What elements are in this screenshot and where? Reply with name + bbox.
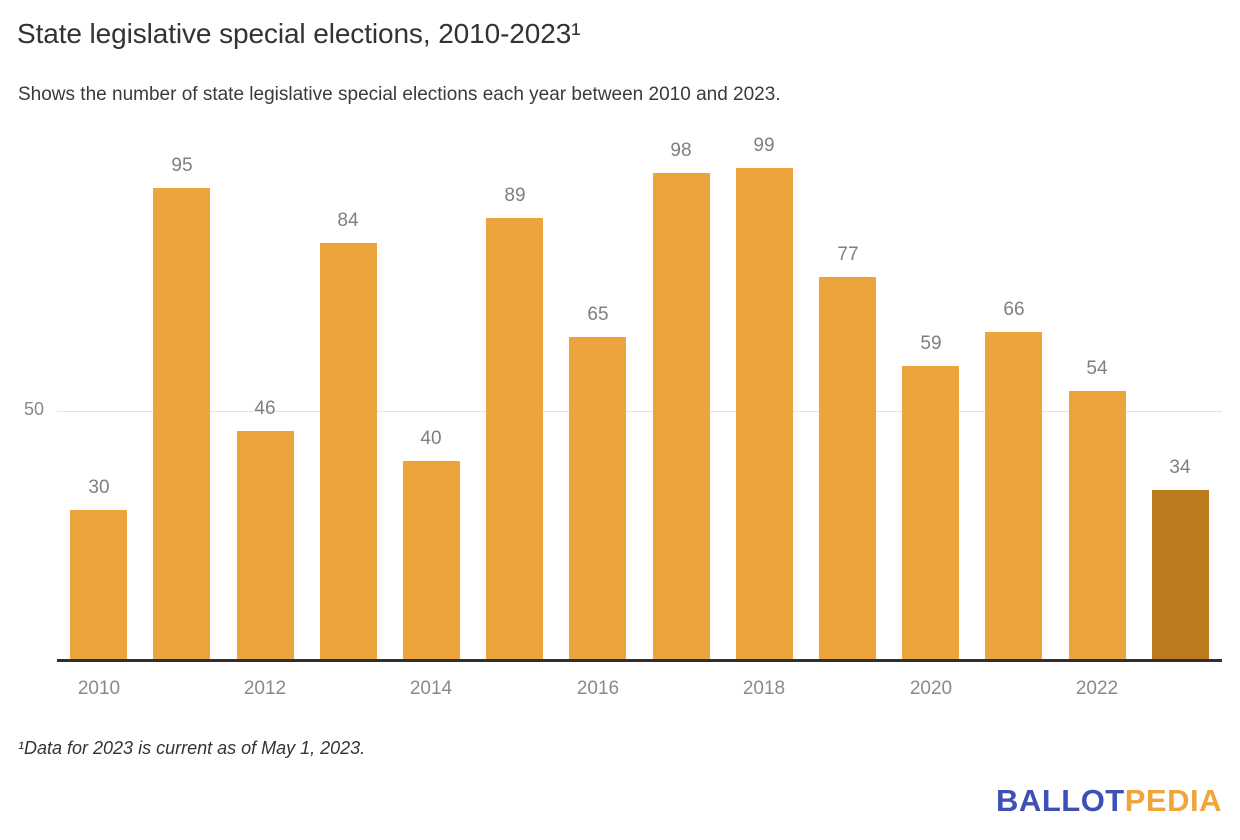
- bar-2017[interactable]: [653, 173, 710, 659]
- bar-value-label-2018: 99: [724, 135, 804, 157]
- bar-value-label-2019: 77: [808, 244, 888, 266]
- bar-value-label-2015: 89: [475, 185, 555, 207]
- logo-text-secondary: PEDIA: [1125, 783, 1222, 818]
- bar-2011[interactable]: [153, 188, 210, 659]
- x-axis-tick-label-2022: 2022: [1052, 678, 1142, 700]
- bar-value-label-2017: 98: [641, 140, 721, 162]
- bar-2020[interactable]: [902, 366, 959, 659]
- bar-2021[interactable]: [985, 332, 1042, 659]
- bar-2022[interactable]: [1069, 391, 1126, 659]
- bar-chart-plot: 5030201095462012844020148965201698992018…: [0, 0, 1240, 840]
- ballotpedia-logo: BALLOTPEDIA: [996, 783, 1222, 819]
- bar-value-label-2010: 30: [59, 477, 139, 499]
- bar-value-label-2012: 46: [225, 398, 305, 420]
- x-axis-tick-label-2012: 2012: [220, 678, 310, 700]
- x-axis-tick-label-2018: 2018: [719, 678, 809, 700]
- chart-card: State legislative special elections, 201…: [0, 0, 1240, 840]
- bar-2012[interactable]: [237, 431, 294, 659]
- bar-2013[interactable]: [320, 243, 377, 659]
- bar-value-label-2013: 84: [308, 210, 388, 232]
- chart-footnote: ¹Data for 2023 is current as of May 1, 2…: [18, 738, 365, 759]
- bar-2023[interactable]: [1152, 490, 1209, 659]
- logo-text-primary: BALLOT: [996, 783, 1125, 818]
- x-axis-tick-label-2010: 2010: [54, 678, 144, 700]
- bar-2015[interactable]: [486, 218, 543, 659]
- bar-value-label-2014: 40: [391, 428, 471, 450]
- bar-value-label-2023: 34: [1140, 457, 1220, 479]
- bar-2019[interactable]: [819, 277, 876, 659]
- bar-2018[interactable]: [736, 168, 793, 659]
- bar-2010[interactable]: [70, 510, 127, 659]
- bar-value-label-2020: 59: [891, 333, 971, 355]
- x-axis-line: [57, 659, 1222, 662]
- bar-value-label-2021: 66: [974, 299, 1054, 321]
- bar-2014[interactable]: [403, 461, 460, 659]
- bar-value-label-2011: 95: [142, 155, 222, 177]
- x-axis-tick-label-2016: 2016: [553, 678, 643, 700]
- bar-value-label-2022: 54: [1057, 358, 1137, 380]
- bar-2016[interactable]: [569, 337, 626, 659]
- bar-value-label-2016: 65: [558, 304, 638, 326]
- x-axis-tick-label-2020: 2020: [886, 678, 976, 700]
- x-axis-tick-label-2014: 2014: [386, 678, 476, 700]
- y-axis-tick-label: 50: [0, 399, 44, 420]
